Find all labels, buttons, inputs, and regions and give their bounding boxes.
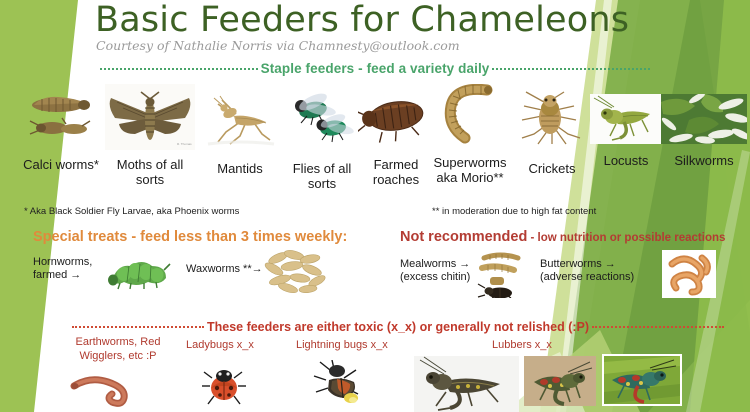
earthworm-photo: [68, 368, 148, 408]
fly-lower: [317, 111, 355, 142]
feeder-label: Superworms aka Morio**: [425, 155, 515, 186]
feeder-label: Crickets: [512, 161, 592, 176]
waxworms-photo: [262, 248, 332, 294]
butterworms-photo: [662, 250, 716, 298]
not-recommended-main: Not recommended: [400, 229, 527, 245]
hornworms-label: Hornworms, farmed →: [33, 256, 92, 282]
page-subtitle: Courtesy of Nathalie Norris via Chamnest…: [96, 39, 460, 53]
page-title: Basic Feeders for Chameleons: [95, 1, 695, 40]
waxworms-label: Waxworms **→: [186, 263, 263, 276]
feeder-label: Flies of all sorts: [283, 161, 361, 192]
hawk-moth-photo: R. Thomas: [105, 84, 195, 150]
feeder-moths: R. Thomas Moths of all sorts: [105, 84, 195, 188]
blue-bottle-flies-photo: [283, 90, 361, 148]
feeder-crickets: Crickets: [512, 90, 592, 176]
toxic-dash-right: [592, 326, 724, 328]
darkling-beetle: [478, 284, 512, 298]
staple-banner-label: Staple feeders - feed a variety daily: [258, 61, 493, 76]
feeder-label: Moths of all sorts: [105, 157, 195, 188]
feeder-locusts: Locusts: [590, 94, 662, 168]
calci-worms-photo: [22, 88, 100, 148]
toxic-banner-label: These feeders are either toxic (x_x) or …: [204, 320, 592, 334]
feeder-label: Calci worms*: [22, 157, 100, 172]
feeder-label: Locusts: [590, 153, 662, 168]
calci-worm-top: [32, 97, 90, 112]
feeder-label: Farmed roaches: [358, 157, 434, 188]
superworm-photo: [425, 84, 515, 148]
feeder-superworms: Superworms aka Morio**: [425, 84, 515, 186]
ladybugs-label: Ladybugs x_x: [186, 339, 254, 353]
lubbers-label: Lubbers x_x: [492, 339, 552, 353]
cricket-photo: [512, 90, 592, 148]
toxic-banner: These feeders are either toxic (x_x) or …: [72, 320, 724, 334]
banner-dash-right: [492, 68, 650, 70]
svg-text:R. Thomas: R. Thomas: [177, 142, 192, 146]
special-treats-heading: Special treats - feed less than 3 times …: [33, 229, 347, 245]
footnote-superworms: ** in moderation due to high fat content: [432, 207, 596, 218]
lightning-bug-photo: [310, 360, 372, 408]
dubia-roach-photo: [358, 88, 434, 148]
staple-banner: Staple feeders - feed a variety daily: [100, 61, 650, 76]
locust-photo: [590, 94, 662, 144]
mealworms-label: Mealworms → (excess chitin): [400, 258, 470, 284]
feeder-roaches: Farmed roaches: [358, 88, 434, 188]
lightning-bugs-label: Lightning bugs x_x: [296, 339, 388, 353]
hornworm-photo: [104, 250, 174, 292]
toxic-dash-left: [72, 326, 204, 328]
banner-dash-left: [100, 68, 258, 70]
lubber-grasshopper-photo-3: [602, 354, 682, 406]
ladybug-photo: [200, 364, 248, 408]
calci-worm-bottom: [30, 118, 90, 134]
earthworms-label: Earthworms, Red Wigglers, etc :P: [58, 336, 178, 364]
lubber-grasshopper-photos: [414, 356, 519, 412]
footnote-calci: * Aka Black Soldier Fly Larvae, aka Phoe…: [24, 207, 239, 218]
infographic-poster: Basic Feeders for Chameleons Courtesy of…: [0, 0, 750, 412]
feeder-label: Mantids: [200, 161, 280, 176]
feeder-label: Silkworms: [661, 153, 747, 168]
feeder-calci-worms: Calci worms*: [22, 88, 100, 172]
feeder-flies: Flies of all sorts: [283, 90, 361, 192]
silkworms-photo: [661, 94, 747, 144]
feeder-mantids: Mantids: [200, 90, 280, 176]
butterworms-label: Butterworms → (adverse reactions): [540, 258, 634, 284]
not-recommended-heading: Not recommended - low nutrition or possi…: [400, 229, 725, 245]
praying-mantis-photo: [200, 90, 280, 148]
feeder-silkworms: Silkworms: [661, 94, 747, 168]
lubber-grasshopper-photo-2: [524, 356, 596, 406]
mealworm-beetle-photo: [476, 250, 526, 298]
